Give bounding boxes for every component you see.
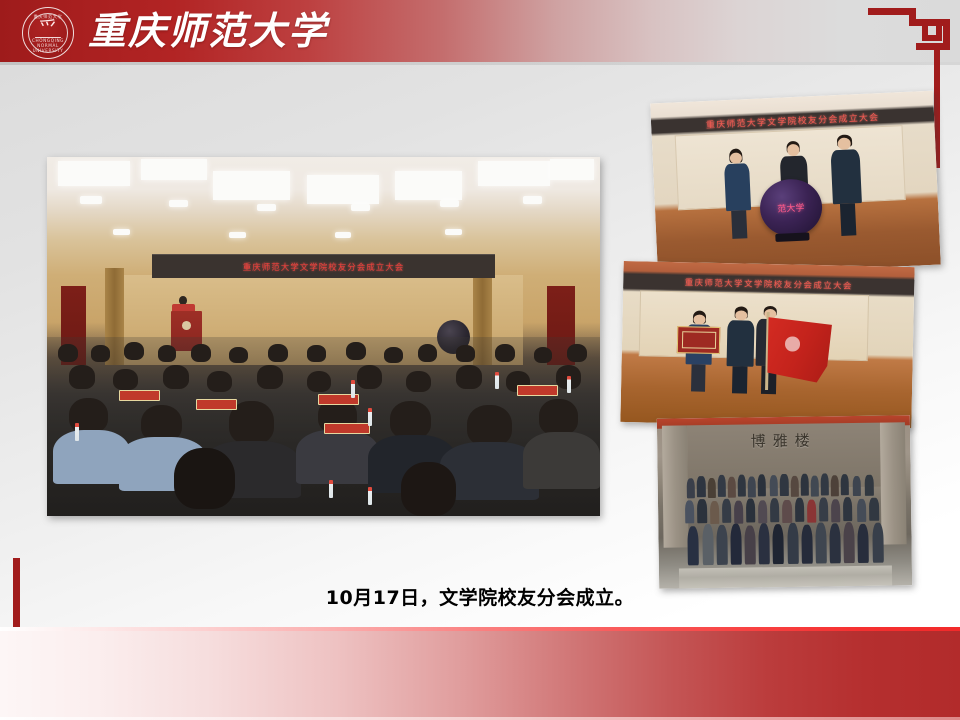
plaque-person-center: [726, 307, 755, 394]
building-name-text: 博雅楼: [687, 428, 880, 452]
group-crowd: [683, 470, 887, 571]
launch-scene: 重庆师范大学文学院校友分会成立大会: [650, 91, 941, 278]
header-underline: [0, 62, 960, 65]
hall-audience: [47, 337, 600, 517]
podium-emblem-icon: [182, 321, 191, 330]
flag-emblem-icon: [785, 337, 800, 352]
slide-caption: 10月17日，文学院校友分会成立。: [120, 583, 840, 610]
photo-group-image: 博雅楼: [657, 415, 912, 589]
launch-globe-base: [775, 232, 809, 242]
launch-globe-text: 范大学: [759, 199, 822, 215]
plaque-banner-text: 重庆师范大学文学院校友分会成立大会: [685, 276, 854, 292]
hall-stage-banner: 重庆师范大学文学院校友分会成立大会: [152, 254, 495, 278]
photo-plaque-image: 重庆师范大学文学院校友分会成立大会: [620, 261, 914, 428]
emblem-arc-bottom-text: CHONGQING NORMAL UNIVERSITY: [23, 38, 73, 53]
photo-launch-ceremony[interactable]: 重庆师范大学文学院校友分会成立大会: [650, 91, 941, 278]
plaque-scene: 重庆师范大学文学院校友分会成立大会: [620, 261, 914, 428]
photo-group-portrait[interactable]: 博雅楼: [657, 415, 912, 589]
hall-scene: 重庆师范大学文学院校友分会成立大会: [47, 157, 600, 516]
launch-person-right: [830, 134, 863, 236]
university-emblem-icon: 重庆师范大学 ⺤ CHONGQING NORMAL UNIVERSITY: [22, 7, 74, 59]
hall-banner-text: 重庆师范大学文学院校友分会成立大会: [243, 261, 405, 273]
group-scene: 博雅楼: [657, 415, 912, 589]
photo-main-conference-hall[interactable]: 重庆师范大学文学院校友分会成立大会: [47, 157, 600, 516]
photo-plaque-and-flag[interactable]: 重庆师范大学文学院校友分会成立大会: [620, 261, 914, 428]
launch-person-left: [723, 148, 753, 240]
ceremonial-flag: [767, 317, 832, 383]
plaque-board-inner: [681, 331, 716, 349]
university-name-title: 重庆师范大学: [88, 8, 328, 56]
photo-main-image: 重庆师范大学文学院校友分会成立大会: [47, 157, 600, 516]
slide-root: 重庆师范大学 ⺤ CHONGQING NORMAL UNIVERSITY 重庆师…: [0, 0, 960, 720]
plaque-board: [677, 327, 720, 354]
photo-launch-image: 重庆师范大学文学院校友分会成立大会: [650, 91, 941, 278]
emblem-center-glyph: ⺤: [23, 19, 73, 39]
footer-band: [0, 631, 960, 720]
